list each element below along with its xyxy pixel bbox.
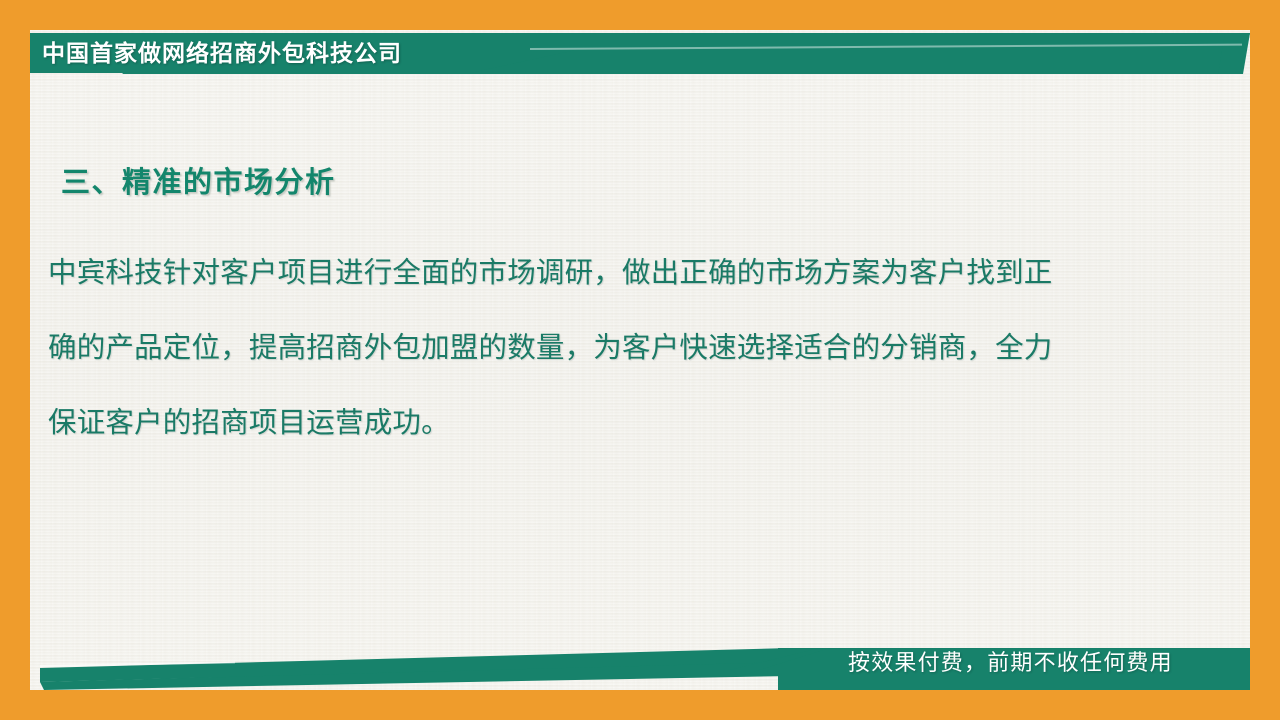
section-heading: 三、精准的市场分析: [61, 162, 336, 204]
footer-band-shape: [30, 630, 1250, 690]
footer-tagline: 按效果付费，前期不收任何费用: [848, 648, 1173, 678]
body-line-2: 确的产品定位，提高招商外包加盟的数量，为客户快速选择适合的分销商，全力: [48, 310, 1208, 385]
presentation-slide: 中国首家做网络招商外包科技公司 三、精准的市场分析 中宾科技针对客户项目进行全面…: [0, 0, 1280, 720]
header-band-shape: [30, 33, 1250, 77]
body-line-3: 保证客户的招商项目运营成功。: [48, 385, 1208, 460]
body-line-1: 中宾科技针对客户项目进行全面的市场调研，做出正确的市场方案为客户找到正: [48, 235, 1208, 310]
header-title: 中国首家做网络招商外包科技公司: [42, 38, 402, 68]
body-paragraph: 中宾科技针对客户项目进行全面的市场调研，做出正确的市场方案为客户找到正 确的产品…: [48, 235, 1208, 460]
header-band: 中国首家做网络招商外包科技公司: [30, 33, 1250, 77]
header-divider-line: [530, 44, 1242, 50]
slide-canvas: 中国首家做网络招商外包科技公司 三、精准的市场分析 中宾科技针对客户项目进行全面…: [30, 30, 1250, 690]
footer-band: 按效果付费，前期不收任何费用: [30, 630, 1250, 690]
footer-divider-line: [40, 661, 235, 667]
